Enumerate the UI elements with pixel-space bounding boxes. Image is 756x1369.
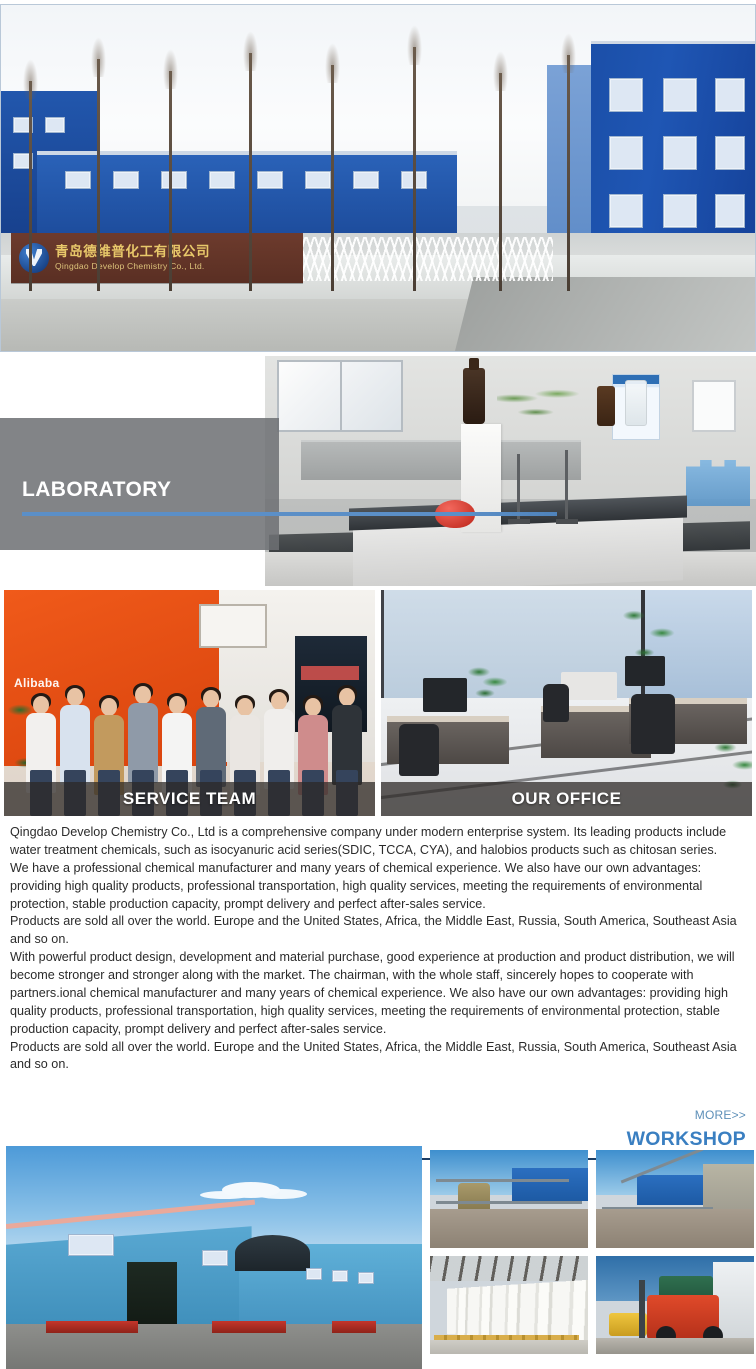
burette-stand bbox=[517, 454, 520, 520]
forklift-loading-photo bbox=[596, 1256, 754, 1354]
forklift-mast bbox=[639, 1280, 645, 1341]
cloud bbox=[222, 1182, 280, 1198]
window bbox=[715, 136, 745, 170]
potted-plant bbox=[613, 598, 683, 668]
company-name-chinese: 青岛德维普化工有限公司 bbox=[55, 245, 210, 259]
window bbox=[358, 1272, 374, 1284]
our-office-photo: OUR OFFICE bbox=[381, 590, 752, 816]
office-chair bbox=[631, 694, 675, 754]
warehouse-roof-beams bbox=[430, 1256, 588, 1281]
company-sign: 青岛德维普化工有限公司 Qingdao Develop Chemistry Co… bbox=[11, 233, 303, 283]
pipe-rack bbox=[436, 1179, 569, 1182]
tree bbox=[413, 47, 416, 291]
window bbox=[305, 171, 331, 189]
window bbox=[663, 194, 697, 228]
workshop-door bbox=[127, 1262, 177, 1329]
tree bbox=[567, 55, 570, 291]
tree bbox=[29, 81, 32, 291]
company-name-english: Qingdao Develop Chemistry Co., Ltd. bbox=[55, 262, 210, 271]
blue-building bbox=[512, 1168, 588, 1201]
laboratory-title: LABORATORY bbox=[22, 478, 171, 502]
workshop-exterior-photo bbox=[6, 1146, 422, 1369]
window bbox=[209, 171, 235, 189]
company-logo-icon bbox=[19, 243, 49, 273]
pipe-rack bbox=[436, 1201, 581, 1204]
window bbox=[663, 78, 697, 112]
window bbox=[68, 1234, 114, 1256]
our-office-caption: OUR OFFICE bbox=[381, 782, 752, 816]
window bbox=[663, 136, 697, 170]
showcase-row: Alibaba SERVICE TEAM bbox=[0, 590, 756, 816]
right-blue-building bbox=[591, 41, 755, 253]
wall-plaque bbox=[199, 604, 267, 648]
office-facade bbox=[713, 1262, 754, 1338]
red-loading-dock bbox=[46, 1321, 138, 1333]
potted-plant bbox=[497, 380, 583, 426]
service-team-photo: Alibaba SERVICE TEAM bbox=[4, 590, 375, 816]
lab-reagent-shelf bbox=[301, 440, 581, 480]
production-plant-photo bbox=[430, 1150, 588, 1248]
profile-paragraph: We have a professional chemical manufact… bbox=[10, 860, 748, 914]
laboratory-section: LABORATORY bbox=[0, 356, 756, 586]
window bbox=[202, 1250, 228, 1266]
window bbox=[353, 171, 379, 189]
plant-yard bbox=[430, 1209, 588, 1248]
window bbox=[161, 171, 187, 189]
window bbox=[65, 171, 91, 189]
service-team-caption: SERVICE TEAM bbox=[4, 782, 375, 816]
profile-paragraph: Products are sold all over the world. Eu… bbox=[10, 913, 748, 949]
clear-reagent-bottle bbox=[625, 380, 647, 426]
profile-paragraph: With powerful product design, developmen… bbox=[10, 949, 748, 1038]
service-team-label: SERVICE TEAM bbox=[123, 789, 256, 809]
tree bbox=[249, 53, 252, 291]
printer bbox=[561, 672, 617, 700]
window bbox=[45, 117, 65, 133]
blue-workshop-building-photo bbox=[596, 1150, 754, 1248]
mid-blue-building bbox=[37, 155, 457, 237]
red-loading-dock bbox=[212, 1321, 286, 1333]
window bbox=[332, 1270, 348, 1282]
red-loading-dock bbox=[332, 1321, 376, 1333]
profile-paragraph: Qingdao Develop Chemistry Co., Ltd is a … bbox=[10, 824, 748, 860]
window bbox=[609, 194, 643, 228]
office-chair bbox=[399, 724, 439, 776]
window bbox=[609, 78, 643, 112]
window bbox=[306, 1268, 322, 1280]
water-jugs bbox=[686, 460, 750, 506]
window bbox=[609, 136, 643, 170]
warehouse-floor bbox=[430, 1340, 588, 1354]
factory-entrance-photo: 青岛德维普化工有限公司 Qingdao Develop Chemistry Co… bbox=[0, 4, 756, 352]
potted-plant bbox=[467, 662, 507, 702]
laboratory-underline bbox=[22, 512, 557, 516]
our-office-label: OUR OFFICE bbox=[512, 789, 622, 809]
window bbox=[113, 171, 139, 189]
laboratory-bench-photo bbox=[265, 356, 756, 586]
tree bbox=[97, 59, 100, 291]
tree bbox=[331, 65, 334, 291]
ibc-tote-storage-photo bbox=[430, 1256, 588, 1354]
amber-reagent-bottle bbox=[597, 386, 615, 426]
office-chair bbox=[543, 684, 569, 722]
blue-building bbox=[637, 1175, 710, 1204]
yard-pavement bbox=[596, 1338, 754, 1354]
company-profile-text: Qingdao Develop Chemistry Co., Ltd is a … bbox=[10, 824, 748, 1074]
window bbox=[715, 78, 745, 112]
window bbox=[715, 194, 745, 228]
tree bbox=[499, 73, 502, 291]
sliding-gate bbox=[303, 237, 553, 281]
tree bbox=[169, 71, 172, 291]
profile-paragraph: Products are sold all over the world. Eu… bbox=[10, 1039, 748, 1075]
monitor bbox=[423, 678, 467, 712]
lab-window bbox=[277, 360, 403, 432]
ibc-totes bbox=[447, 1280, 588, 1344]
plant-yard bbox=[596, 1209, 754, 1248]
workshop-gallery bbox=[0, 1144, 756, 1369]
window bbox=[257, 171, 283, 189]
more-link[interactable]: MORE>> bbox=[695, 1108, 746, 1122]
dark-reagent-bottle bbox=[463, 368, 485, 424]
arched-roof-section bbox=[235, 1235, 310, 1271]
lab-whiteboard bbox=[692, 380, 736, 432]
burette-stand bbox=[565, 450, 568, 520]
